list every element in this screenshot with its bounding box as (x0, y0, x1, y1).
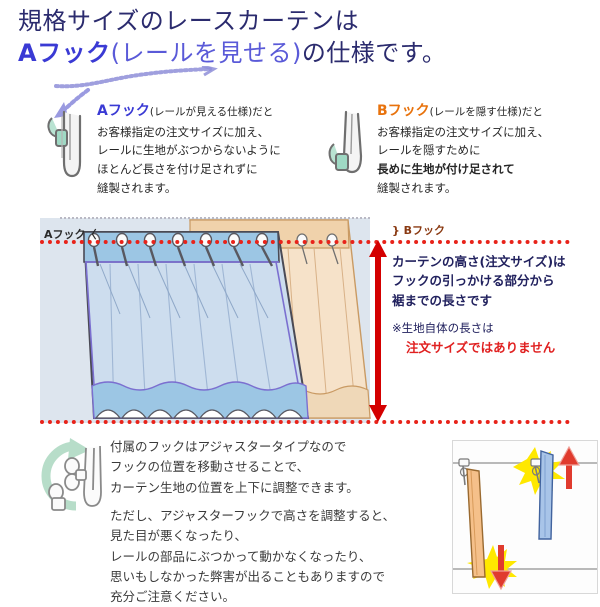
adjuster-line-1: 付属のフックはアジャスタータイプなので (110, 437, 440, 457)
diagram-label-a: Aフック〈 (44, 226, 97, 242)
hook-top-dotted-line (40, 240, 570, 244)
hook-a-line-3: ほとんど長さを付け足されずに (97, 160, 292, 179)
caution-line-3: レールの部品にぶつかって動かなくなったり、 (110, 547, 450, 567)
page-title: 規格サイズのレースカーテンは Aフック(レールを見せる)の仕様です。 (18, 6, 593, 69)
adjuster-hook-icon (24, 432, 120, 522)
caution-description: ただし、アジャスターフックで高さを調整すると、 見た目が悪くなったり、 レールの… (110, 506, 450, 607)
caution-line-4: 思いもしなかった弊害が出ることもありますので (110, 567, 450, 587)
hook-a-title-line: Aフック(レールが見える仕様)だと (97, 100, 292, 123)
hook-b-text: Bフック(レールを隠す仕様)だと お客様指定の注文サイズに加え、 レールを隠すた… (377, 100, 582, 197)
caution-line-5: 充分ご注意ください。 (110, 587, 450, 607)
headline-suffix: の仕様です。 (302, 39, 447, 67)
hook-b-explanation: Bフック(レールを隠す仕様)だと お客様指定の注文サイズに加え、 レールを隠すた… (322, 100, 582, 197)
hook-a-text: Aフック(レールが見える仕様)だと お客様指定の注文サイズに加え、 レールに生地… (97, 100, 292, 197)
hook-a-title: Aフック (97, 103, 150, 119)
caution-line-2: 見た目が悪くなったり、 (110, 526, 450, 546)
headline-line-1: 規格サイズのレースカーテンは (18, 6, 593, 38)
info-note: ※生地自体の長さは (392, 320, 600, 338)
hook-a-line-1: お客様指定の注文サイズに加え、 (97, 123, 292, 142)
height-measure-arrow (368, 240, 388, 422)
height-info-text: カーテンの高さ(注文サイズ)は フックの引っかける部分から 裾までの長さです ※… (392, 252, 600, 357)
curtain-illustration (40, 218, 400, 428)
hook-a-line-4: 縫製されます。 (97, 179, 292, 198)
hook-a-subtitle: (レールが見える仕様)だと (150, 106, 273, 118)
diagram-label-b: } Bフック (392, 222, 445, 238)
headline-line-2: Aフック(レールを見せる)の仕様です。 (18, 38, 593, 70)
hook-b-subtitle: (レールを隠す仕様)だと (430, 106, 543, 118)
hook-b-line-2: レールを隠すために (377, 141, 582, 160)
hem-bottom-dotted-line (40, 420, 570, 424)
curtain-a-shape (84, 232, 308, 418)
hook-b-line-3: 長めに生地が付け足されて (377, 160, 582, 179)
b-hook-icon (322, 108, 368, 182)
adjuster-description: 付属のフックはアジャスタータイプなので フックの位置を移動させることで、 カーテ… (110, 437, 440, 498)
curtain-diagram: Aフック〈 } Bフック カーテンの高さ(注文サイズ)は フックの引っかける部分… (0, 206, 600, 431)
hook-b-line-1: お客様指定の注文サイズに加え、 (377, 123, 582, 142)
headline-hook-a: Aフック (18, 39, 111, 67)
curtain-orange (459, 459, 485, 577)
a-hook-icon (42, 108, 88, 182)
hook-b-line-4: 縫製されます。 (377, 179, 582, 198)
hook-b-title-line: Bフック(レールを隠す仕様)だと (377, 100, 582, 123)
info-main-line-1: カーテンの高さ(注文サイズ)は (392, 252, 600, 271)
rail-collision-illustration (452, 440, 598, 594)
info-main-line-2: フックの引っかける部分から (392, 271, 600, 290)
adjuster-line-2: フックの位置を移動させることで、 (110, 457, 440, 477)
caution-line-1: ただし、アジャスターフックで高さを調整すると、 (110, 506, 450, 526)
info-warning: 注文サイズではありません (392, 338, 600, 357)
curtain-blue (531, 451, 553, 539)
hook-a-explanation: Aフック(レールが見える仕様)だと お客様指定の注文サイズに加え、 レールに生地… (42, 100, 292, 197)
headline-hook-a-note: (レールを見せる) (111, 39, 302, 67)
hook-b-title: Bフック (377, 103, 430, 119)
info-main-line-3: 裾までの長さです (392, 291, 600, 310)
up-arrow-red-icon (559, 447, 579, 489)
adjuster-line-3: カーテン生地の位置を上下に調整できます。 (110, 478, 440, 498)
hook-a-line-2: レールに生地がぶつからないように (97, 141, 292, 160)
